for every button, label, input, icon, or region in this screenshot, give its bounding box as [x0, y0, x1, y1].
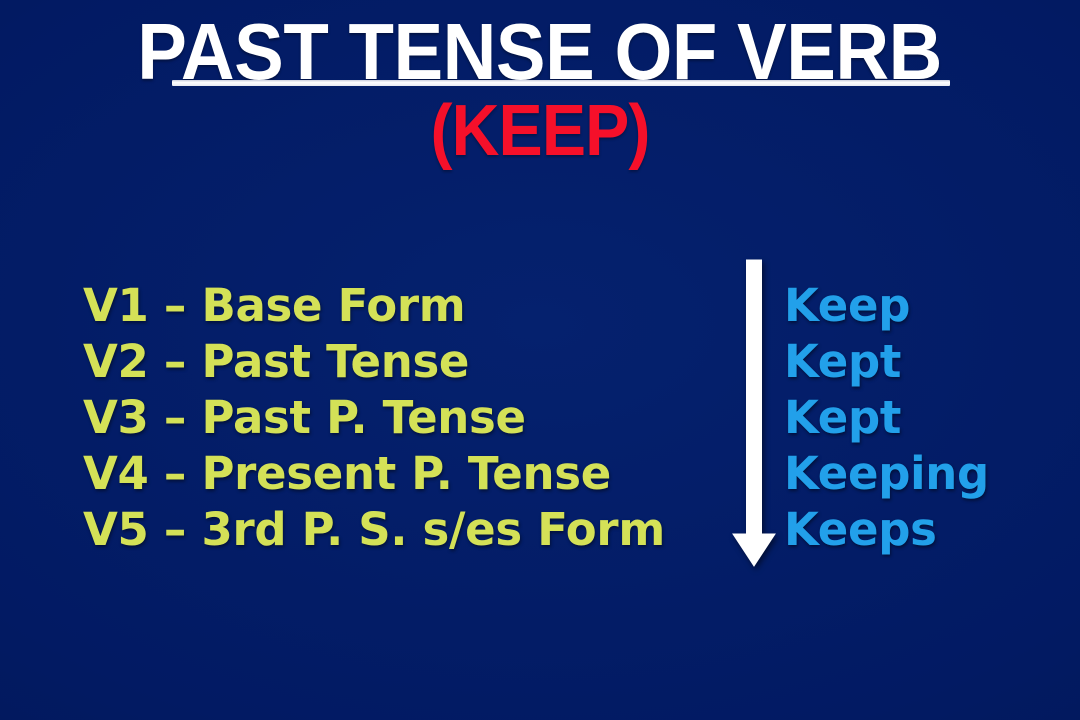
- header-block: PAST TENSE OF VERB: [0, 14, 1080, 90]
- list-item: V5 – 3rd P. S. s/es Form: [83, 502, 743, 558]
- list-item: V1 – Base Form: [83, 278, 743, 334]
- list-item: Keeping: [784, 446, 1074, 502]
- infographic-canvas: PAST TENSE OF VERB (KEEP) V1 – Base Form…: [0, 0, 1080, 720]
- list-item: V2 – Past Tense: [83, 334, 743, 390]
- verb-answers-list: Keep Kept Kept Keeping Keeps: [784, 278, 1074, 558]
- verb-forms-list: V1 – Base Form V2 – Past Tense V3 – Past…: [83, 278, 743, 558]
- arrow-down-icon: [729, 258, 779, 570]
- page-title: PAST TENSE OF VERB: [138, 14, 943, 90]
- list-item: Keep: [784, 278, 1074, 334]
- list-item: V3 – Past P. Tense: [83, 390, 743, 446]
- list-item: Kept: [784, 334, 1074, 390]
- title-underline: [172, 80, 950, 86]
- page-subtitle: (KEEP): [43, 92, 1037, 170]
- list-item: Kept: [784, 390, 1074, 446]
- list-item: V4 – Present P. Tense: [83, 446, 743, 502]
- list-item: Keeps: [784, 502, 1074, 558]
